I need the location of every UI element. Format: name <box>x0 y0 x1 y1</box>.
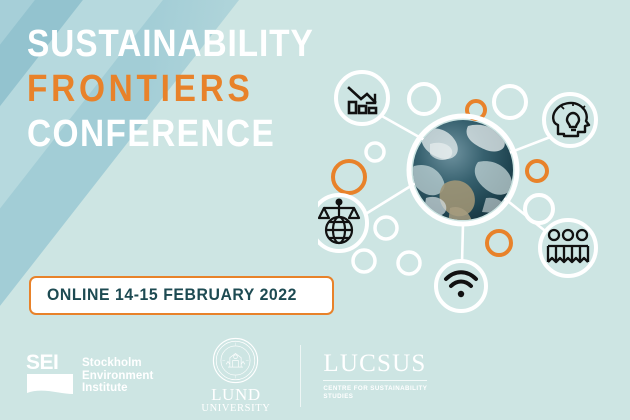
network-diagram <box>318 58 630 330</box>
node-idea-head <box>544 94 596 146</box>
title-line-conference: CONFERENCE <box>27 112 317 157</box>
earth-globe-node <box>409 116 517 224</box>
title-line-sustainability: SUSTAINABILITY <box>27 22 317 67</box>
lund-wordmark: LUND UNIVERSITY <box>201 386 270 415</box>
sei-logo-mark: SEI <box>26 353 74 400</box>
lund-name-line2: UNIVERSITY <box>201 403 270 415</box>
sei-swoosh-icon <box>26 373 74 395</box>
node-connectivity <box>436 261 486 311</box>
logo-lund-university: LUND UNIVERSITY <box>201 337 270 415</box>
date-banner-text: ONLINE 14-15 FEBRUARY 2022 <box>47 285 297 305</box>
logo-sei: SEI Stockholm Environment Institute <box>26 353 153 400</box>
logo-divider <box>300 345 301 407</box>
sei-abbreviation: SEI <box>26 353 74 373</box>
date-banner: ONLINE 14-15 FEBRUARY 2022 <box>29 276 334 315</box>
sei-name-line2: Environment <box>82 370 153 383</box>
lucsus-rule <box>323 380 427 381</box>
lucsus-subtitle-line2: STUDIES <box>323 393 353 401</box>
sei-name-line3: Institute <box>82 382 153 395</box>
lucsus-wordmark: LUCSUS <box>323 351 426 377</box>
node-declining-chart <box>336 72 388 124</box>
node-community <box>540 220 596 276</box>
logo-lucsus: LUCSUS CENTRE FOR SUSTAINABILITY STUDIES <box>323 351 427 401</box>
lucsus-subtitle-line1: CENTRE FOR SUSTAINABILITY <box>323 385 427 393</box>
node-global-justice <box>318 195 367 251</box>
lund-name-line1: LUND <box>201 386 270 403</box>
title-line-frontiers: FRONTIERS <box>27 67 317 112</box>
conference-poster: SUSTAINABILITY FRONTIERS CONFERENCE ONLI… <box>0 0 630 420</box>
lund-seal-icon <box>212 337 259 384</box>
sei-name-line1: Stockholm <box>82 357 153 370</box>
page-title: SUSTAINABILITY FRONTIERS CONFERENCE <box>27 22 357 157</box>
partner-logo-bar: SEI Stockholm Environment Institute <box>26 337 427 415</box>
sei-wordmark: Stockholm Environment Institute <box>82 357 153 395</box>
